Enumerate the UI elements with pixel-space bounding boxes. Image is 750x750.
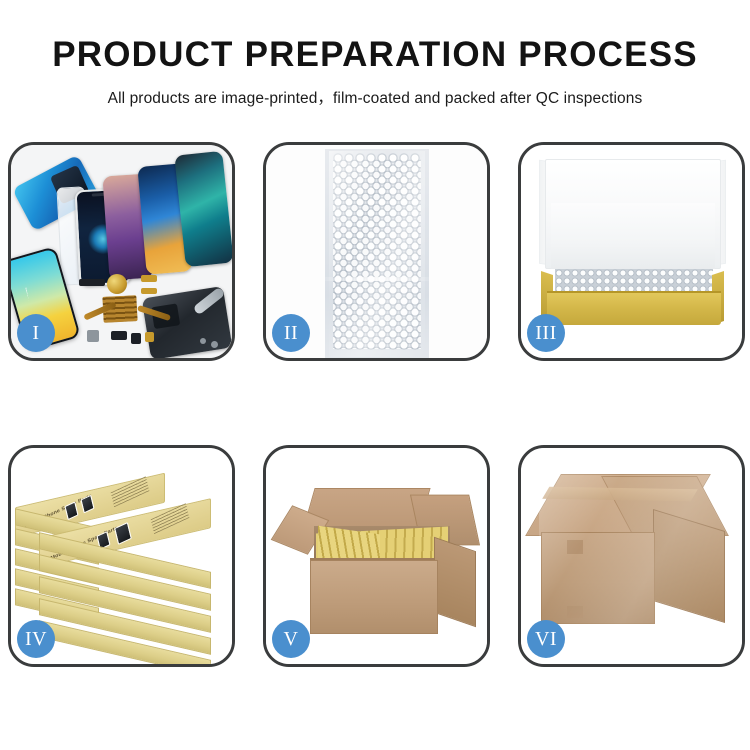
- small-part-icon: [111, 331, 127, 340]
- step-badge-4: IV: [17, 620, 55, 658]
- panel-step-2: II: [263, 142, 490, 361]
- carton-front-face-icon: [541, 532, 655, 624]
- step-badge-6: VI: [527, 620, 565, 658]
- speaker-part-icon: [79, 279, 105, 286]
- step-badge-3: III: [527, 314, 565, 352]
- panel-step-1: I: [8, 142, 235, 361]
- carton-tab-top-icon: [567, 540, 583, 554]
- step-badge-5: V: [272, 620, 310, 658]
- process-grid: I II: [8, 142, 745, 675]
- carton-side-icon: [434, 537, 476, 627]
- infographic-page: PRODUCT PREPARATION PROCESS All products…: [0, 0, 750, 750]
- carton-tab-bottom-icon: [567, 606, 583, 618]
- camera-module-icon: [131, 333, 141, 344]
- gold-flex-part-icon: [141, 275, 157, 282]
- kraft-tray-front-icon: [547, 293, 721, 325]
- carton-front-icon: [310, 560, 438, 634]
- step-badge-1: I: [17, 314, 55, 352]
- screw2-icon: [200, 338, 206, 344]
- box-spec-lines-front: [151, 503, 190, 534]
- page-title: PRODUCT PREPARATION PROCESS: [0, 37, 750, 72]
- gold-coil-icon: [107, 274, 127, 294]
- panel-step-4: Mobile Phone Spare Parts Mobile Phone Sp…: [8, 445, 235, 667]
- sim-tray-icon: [87, 330, 99, 342]
- vibrator-icon: [145, 332, 154, 342]
- panel-step-5: V: [263, 445, 490, 667]
- page-subtitle: All products are image-printed，film-coat…: [0, 86, 750, 108]
- plastic-gloss-icon: [329, 151, 425, 357]
- header: PRODUCT PREPARATION PROCESS All products…: [0, 0, 750, 108]
- panel-step-6: VI: [518, 445, 745, 667]
- screw-icon: [211, 341, 218, 348]
- panel-step-3: III: [518, 142, 745, 361]
- foam-padding-icon: [551, 203, 715, 269]
- gold-flex-part2-icon: [141, 288, 157, 294]
- packing-tape-icon: [542, 487, 698, 502]
- step-badge-2: II: [272, 314, 310, 352]
- box-spec-lines-back: [111, 476, 150, 507]
